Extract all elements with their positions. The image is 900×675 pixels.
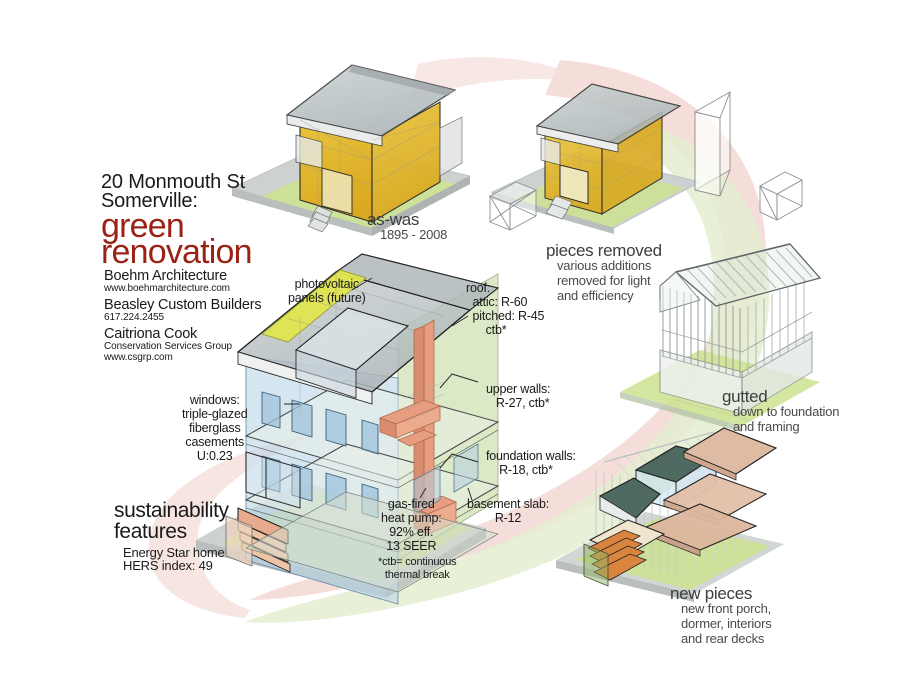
annotation-windows: windows: triple-glazed fiberglass caseme…	[182, 393, 248, 463]
sustainability-item-hers: HERS index: 49	[123, 559, 213, 574]
annotation-photovoltaic: photovoltaic panels (future)	[288, 277, 366, 305]
annotation-foundation-walls: foundation walls: R-18, ctb*	[486, 449, 576, 477]
presentation-board: 20 Monmouth St Somerville: green renovat…	[0, 0, 900, 675]
annotation-basement-slab: basement slab: R-12	[467, 497, 549, 525]
footnote-ctb: *ctb= continuous thermal break	[378, 556, 456, 581]
stage-sub-as-was: 1895 - 2008	[380, 228, 447, 243]
stage-sub-pieces-removed: various additions removed for light and …	[557, 259, 651, 303]
annotation-roof: roof: attic: R-60 pitched: R-45 ctb*	[466, 281, 544, 337]
annotation-upper-walls: upper walls: R-27, ctb*	[486, 382, 550, 410]
annotation-heat-pump: gas-fired heat pump: 92% eff. 13 SEER	[381, 497, 442, 553]
model-as-was	[232, 65, 470, 236]
credit-firm-1-url[interactable]: www.boehmarchitecture.com	[104, 284, 230, 295]
credit-firm-2-phone: 617.224.2455	[104, 313, 164, 324]
stage-sub-new-pieces: new front porch, dormer, interiors and r…	[681, 602, 772, 646]
sustainability-heading-2: features	[114, 521, 187, 543]
headline-renovation: renovation	[101, 237, 252, 268]
stage-sub-gutted: down to foundation and framing	[733, 405, 839, 435]
credit-person-org: Conservation Services Group	[104, 342, 232, 353]
sustainability-heading-1: sustainability	[114, 500, 229, 522]
credit-person-url[interactable]: www.csgrp.com	[104, 353, 173, 364]
